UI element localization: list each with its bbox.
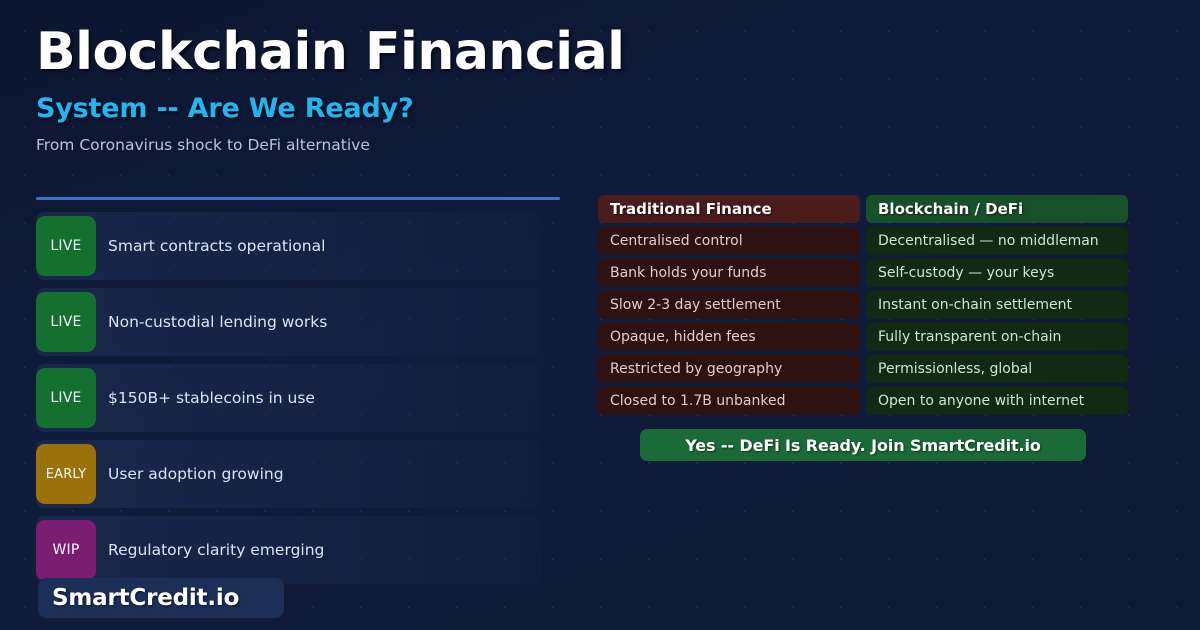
comparison-columns: Traditional FinanceCentralised controlBa… (598, 195, 1128, 419)
comparison-cell: Fully transparent on-chain (866, 323, 1128, 351)
comparison-cell: Decentralised — no middleman (866, 227, 1128, 255)
header-divider (36, 197, 560, 200)
status-label: Smart contracts operational (108, 237, 325, 255)
cta-banner[interactable]: Yes -- DeFi Is Ready. Join SmartCredit.i… (640, 429, 1086, 461)
comparison-cell: Instant on-chain settlement (866, 291, 1128, 319)
comparison-cell: Permissionless, global (866, 355, 1128, 383)
status-label: $150B+ stablecoins in use (108, 389, 315, 407)
status-row: WIPRegulatory clarity emerging (36, 516, 542, 584)
status-label: Non-custodial lending works (108, 313, 327, 331)
status-row: LIVE$150B+ stablecoins in use (36, 364, 542, 432)
comparison-column: Blockchain / DeFiDecentralised — no midd… (866, 195, 1128, 419)
brand-logo-chip: SmartCredit.io (38, 578, 284, 618)
status-badge: EARLY (36, 444, 96, 504)
comparison-cell: Slow 2-3 day settlement (598, 291, 860, 319)
header: Blockchain Financial System -- Are We Re… (36, 26, 636, 154)
status-badge: LIVE (36, 292, 96, 352)
status-badge: WIP (36, 520, 96, 580)
status-label: User adoption growing (108, 465, 284, 483)
comparison-column-header: Blockchain / DeFi (866, 195, 1128, 223)
page-subtitle: System -- Are We Ready? (36, 93, 636, 124)
comparison-column: Traditional FinanceCentralised controlBa… (598, 195, 860, 419)
comparison-cell: Bank holds your funds (598, 259, 860, 287)
comparison-cell: Open to anyone with internet (866, 387, 1128, 415)
status-label: Regulatory clarity emerging (108, 541, 324, 559)
comparison-cell: Self-custody — your keys (866, 259, 1128, 287)
comparison-table: Traditional FinanceCentralised controlBa… (598, 195, 1128, 461)
status-row: LIVESmart contracts operational (36, 212, 542, 280)
status-badge: LIVE (36, 368, 96, 428)
comparison-column-header: Traditional Finance (598, 195, 860, 223)
comparison-cell: Opaque, hidden fees (598, 323, 860, 351)
page-title: Blockchain Financial (36, 26, 636, 79)
comparison-cell: Closed to 1.7B unbanked (598, 387, 860, 415)
page-tagline: From Coronavirus shock to DeFi alternati… (36, 136, 636, 154)
comparison-cell: Restricted by geography (598, 355, 860, 383)
status-row: LIVENon-custodial lending works (36, 288, 542, 356)
status-row: EARLYUser adoption growing (36, 440, 542, 508)
comparison-cell: Centralised control (598, 227, 860, 255)
status-list: LIVESmart contracts operationalLIVENon-c… (36, 212, 542, 592)
status-badge: LIVE (36, 216, 96, 276)
